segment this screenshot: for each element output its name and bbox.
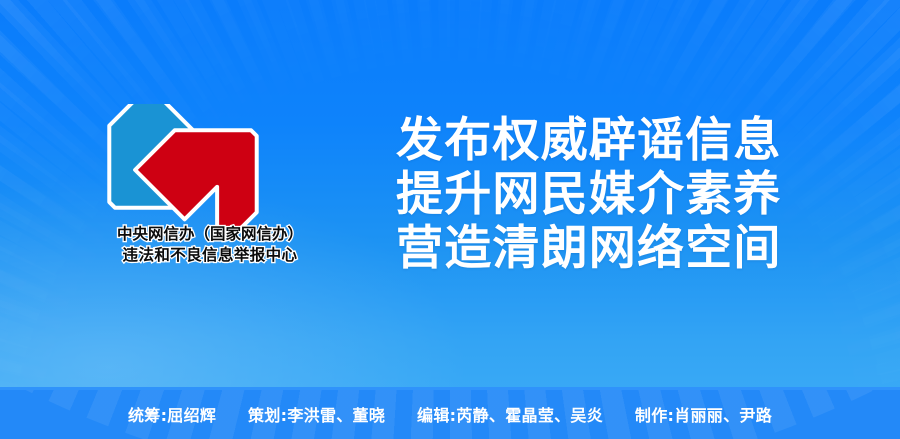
headline: 发布权威辟谣信息 提升网民媒介素养 营造清朗网络空间	[396, 114, 782, 276]
credit-item-producer: 制作:肖丽丽、尹路	[635, 406, 772, 425]
credit-item-coordinator: 统筹:屈绍辉	[128, 406, 216, 425]
credit-item-planner: 策划:李洪雷、董晓	[248, 406, 385, 425]
organization-name: 中央网信办（国家网信办） 违法和不良信息举报中心	[60, 224, 360, 266]
cac-interlocking-chevron-logo-icon	[88, 104, 278, 234]
organization-name-line1: 中央网信办（国家网信办）	[60, 224, 360, 245]
logo-block: 中央网信办（国家网信办） 违法和不良信息举报中心	[60, 104, 360, 284]
organization-name-line2: 违法和不良信息举报中心	[60, 245, 360, 266]
headline-line-2: 提升网民媒介素养	[396, 168, 782, 222]
credit-item-editor: 编辑:芮静、霍晶莹、吴炎	[417, 406, 603, 425]
credits-bar: 统筹:屈绍辉 策划:李洪雷、董晓 编辑:芮静、霍晶莹、吴炎 制作:肖丽丽、尹路	[0, 387, 900, 439]
poster-canvas: 中央网信办（国家网信办） 违法和不良信息举报中心 发布权威辟谣信息 提升网民媒介…	[0, 0, 900, 439]
headline-line-1: 发布权威辟谣信息	[396, 114, 782, 168]
credits-text: 统筹:屈绍辉 策划:李洪雷、董晓 编辑:芮静、霍晶莹、吴炎 制作:肖丽丽、尹路	[0, 402, 900, 426]
headline-line-3: 营造清朗网络空间	[396, 222, 782, 276]
